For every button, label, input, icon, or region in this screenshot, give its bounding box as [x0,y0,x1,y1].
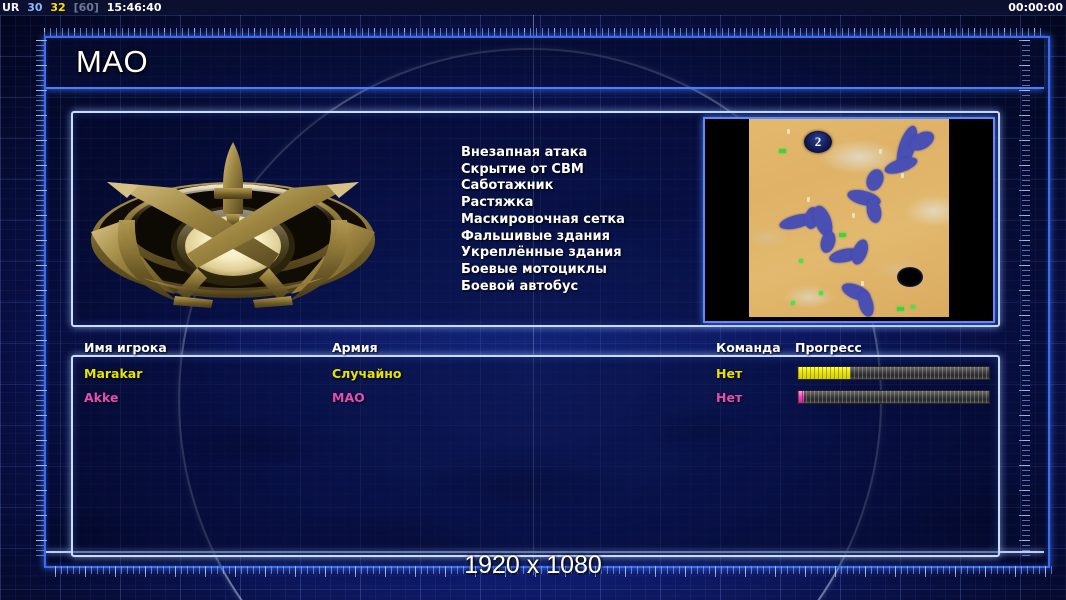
water-body [849,237,871,266]
status-bar-left-group: UR 30 32 [60] 15:46:40 [2,0,166,15]
minimap-preview: 2 [703,117,995,323]
player-name: Akke [84,390,118,405]
map-marker [897,307,904,311]
map-marker [791,301,795,305]
elapsed-timer: 00:00:00 [1008,0,1063,15]
progress-bar-fill [798,367,850,379]
ability-item: Внезапная атака [461,145,625,162]
table-row: Akke MAO Нет [0,390,1066,414]
game-loading-screen: UR 30 32 [60] 15:46:40 00:00:00 MAO [0,0,1066,600]
gla-faction-emblem [83,128,383,313]
map-marker [819,291,823,295]
player-team: Нет [716,366,742,381]
progress-bar-fill [798,391,804,403]
ability-item: Маскировочная сетка [461,212,625,229]
water-body [863,167,886,193]
minimap-terrain: 2 [749,119,949,317]
ability-item: Боевой автобус [461,279,625,296]
resolution-label: 1920 x 1080 [0,551,1066,580]
system-clock: 15:46:40 [107,1,162,14]
fps-max: [60] [74,1,99,14]
player-name: Marakar [84,366,142,381]
map-marker [799,259,803,263]
fps-alt: 32 [50,1,65,14]
ability-item: Растяжка [461,195,625,212]
column-header-army: Армия [332,340,378,355]
performance-status-bar: UR 30 32 [60] 15:46:40 00:00:00 [0,0,1066,15]
column-header-name: Имя игрока [84,340,167,355]
progress-bar [797,390,990,404]
ability-item: Фальшивые здания [461,229,625,246]
map-marker [911,305,915,309]
player-team: Нет [716,390,742,405]
ruler-top-major [44,28,1046,32]
start-position-marker: 2 [804,131,832,153]
column-header-team: Команда [716,340,781,355]
map-crater [897,267,923,287]
ability-item: Укреплённые здания [461,245,625,262]
table-row: Marakar Случайно Нет [0,366,1066,390]
faction-ability-list: Внезапная атака Скрытие от СВМ Саботажни… [461,145,625,295]
map-marker [852,213,855,218]
ruler-left-major [36,40,47,560]
ability-item: Саботажник [461,178,625,195]
ability-item: Боевые мотоциклы [461,262,625,279]
map-marker [807,197,810,202]
ruler-right-major [1019,40,1030,560]
map-marker [861,281,864,286]
header-bar [46,38,1044,89]
map-marker [839,233,846,237]
page-title: MAO [76,44,148,80]
player-army: MAO [332,390,365,405]
column-header-progress: Прогресс [795,340,862,355]
player-army: Случайно [332,366,401,381]
fps-current: 30 [27,1,42,14]
water-body [856,290,877,317]
ability-item: Скрытие от СВМ [461,162,625,179]
status-label: UR [2,1,19,14]
map-marker [901,173,904,178]
map-marker [879,149,882,154]
map-marker [779,149,786,153]
map-marker [787,129,790,134]
player-table-header: Имя игрока Армия Команда Прогресс [0,340,1066,356]
progress-bar [797,366,990,380]
